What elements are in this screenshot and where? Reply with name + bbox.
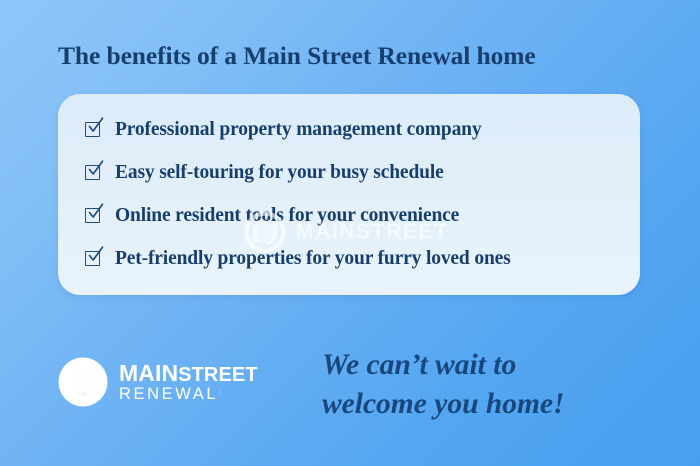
benefit-label: Pet-friendly properties for your furry l… [115, 249, 511, 269]
benefits-list: Professional property management company… [85, 108, 630, 280]
list-item: Professional property management company [85, 108, 630, 151]
benefit-label: Professional property management company [115, 120, 481, 140]
brand-name-street: STREET [178, 364, 258, 386]
registered-mark-icon: . [218, 385, 221, 395]
benefit-label: Easy self-touring for your busy schedule [115, 163, 444, 183]
tagline-line1: We can’t wait to [322, 346, 565, 385]
brand-name-line1: MAINSTREET [119, 362, 258, 385]
checked-box-icon [85, 121, 102, 138]
brand-renewal-label: RENEWAL [119, 385, 218, 403]
benefit-label: Online resident tools for your convenien… [115, 206, 459, 226]
brand-name-main: MAIN [119, 360, 178, 386]
page-title: The benefits of a Main Street Renewal ho… [58, 41, 658, 71]
list-item: Easy self-touring for your busy schedule [85, 151, 630, 194]
list-item: Pet-friendly properties for your furry l… [85, 237, 630, 280]
tagline: We can’t wait to welcome you home! [322, 346, 565, 424]
list-item: Online resident tools for your convenien… [85, 194, 630, 237]
brand-logo: MAINSTREET RENEWAL. [57, 356, 258, 408]
checked-box-icon [85, 207, 102, 224]
brand-name-line2: RENEWAL. [119, 385, 258, 403]
checked-box-icon [85, 164, 102, 181]
brand-wordmark: MAINSTREET RENEWAL. [119, 361, 258, 404]
benefits-card: Professional property management company… [58, 94, 640, 295]
tagline-line2: welcome you home! [322, 385, 565, 424]
checked-box-icon [85, 250, 102, 267]
mainstreet-logo-icon [57, 356, 109, 408]
